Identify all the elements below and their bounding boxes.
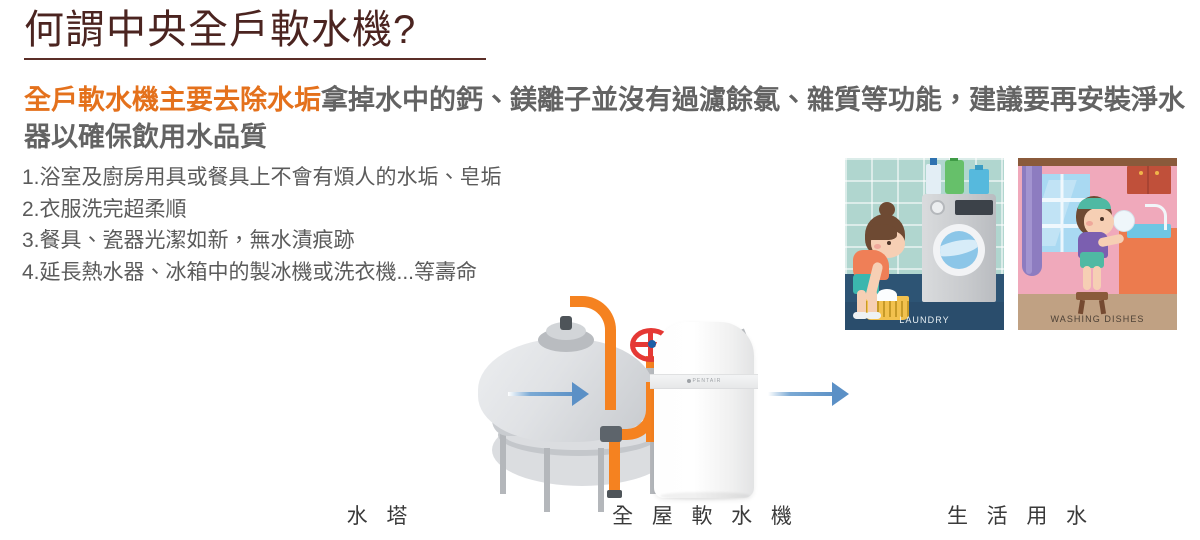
list-item: 4.延長熱水器、冰箱中的製冰機或洗衣機...等壽命	[22, 257, 682, 289]
tank-leg	[500, 430, 506, 494]
page-title: 何謂中央全戶軟水機?	[24, 4, 544, 56]
list-item: 1.浴室及廚房用具或餐具上不會有煩人的水垢、皂垢	[22, 162, 682, 194]
list-item: 2.衣服洗完超柔順	[22, 194, 682, 226]
flow-label-softener: 全 屋 軟 水 機	[600, 500, 810, 530]
cheek	[1086, 221, 1093, 226]
machine-drum	[940, 231, 978, 269]
title-block: 何謂中央全戶軟水機?	[24, 4, 544, 60]
eye	[887, 241, 891, 245]
cabinet-knob-left	[1139, 171, 1143, 175]
water-softener-graphic: PENTAIR	[640, 312, 768, 502]
benefits-list: 1.浴室及廚房用具或餐具上不會有煩人的水垢、皂垢 2.衣服洗完超柔順 3.餐具、…	[22, 162, 682, 288]
flow-step-softener: PENTAIR 全 屋 軟 水 機	[600, 322, 810, 540]
detergent-bottles	[926, 160, 992, 194]
headband	[1078, 198, 1111, 209]
arrow-shaft	[768, 392, 832, 396]
step-stool	[1076, 292, 1108, 300]
bottle-blue	[969, 169, 989, 194]
machine-dial	[930, 200, 945, 215]
lead-paragraph: 全戶軟水機主要去除水垢拿掉水中的鈣、鎂離子並沒有過濾餘氯、雜質等功能，建議要再安…	[24, 82, 1200, 156]
hair-bangs	[867, 224, 897, 240]
bottle-green	[945, 160, 964, 194]
flow-label-water-tower: 水 塔	[230, 500, 530, 530]
leg-right	[1093, 266, 1101, 290]
wall-cabinet	[1127, 166, 1171, 194]
list-item: 3.餐具、瓷器光潔如新，無水漬痕跡	[22, 225, 682, 257]
cheek	[874, 244, 881, 249]
flow-arrow-1	[508, 382, 590, 406]
machine-display-panel	[955, 200, 993, 215]
process-flow-diagram: 水 塔 PENTAIR 全 屋 軟 水 機	[0, 322, 1200, 540]
dishwashing-person	[1070, 190, 1126, 292]
tank-leg	[544, 448, 550, 512]
shorts	[1080, 252, 1104, 268]
flow-step-household: 生 活 用 水	[870, 322, 1170, 540]
leg-left	[1083, 266, 1091, 290]
faucet-icon	[1145, 204, 1167, 230]
title-underline	[24, 58, 486, 60]
brand-label: PENTAIR	[650, 378, 758, 384]
washing-machine	[922, 194, 996, 302]
brand-mark-icon	[687, 379, 691, 383]
laundry-illustration: LAUNDRY	[845, 158, 1004, 330]
softener-body	[654, 322, 754, 498]
washing-dishes-illustration: WASHING DISHES	[1018, 158, 1177, 330]
eye	[1100, 217, 1104, 221]
arrow-head-icon	[572, 382, 589, 406]
flow-label-household: 生 活 用 水	[870, 500, 1170, 530]
arrow-shaft	[508, 392, 572, 396]
cabinet-knob-right	[1155, 171, 1159, 175]
photo-strip: LAUNDRY	[845, 158, 1177, 330]
lead-highlight: 全戶軟水機主要去除水垢	[24, 85, 321, 115]
softener-shadow	[660, 492, 750, 500]
softener-brand-band: PENTAIR	[650, 374, 758, 389]
flow-step-water-tower: 水 塔	[230, 322, 530, 540]
flow-arrow-2	[768, 382, 850, 406]
slide-root: 何謂中央全戶軟水機? 全戶軟水機主要去除水垢拿掉水中的鈣、鎂離子並沒有過濾餘氯、…	[0, 0, 1200, 540]
wall-trim	[1018, 158, 1177, 166]
arrow-head-icon	[832, 382, 849, 406]
laundry-person	[851, 200, 911, 318]
bottle-white	[926, 164, 941, 194]
window-curtain	[1022, 166, 1042, 276]
brand-name: PENTAIR	[693, 378, 722, 384]
